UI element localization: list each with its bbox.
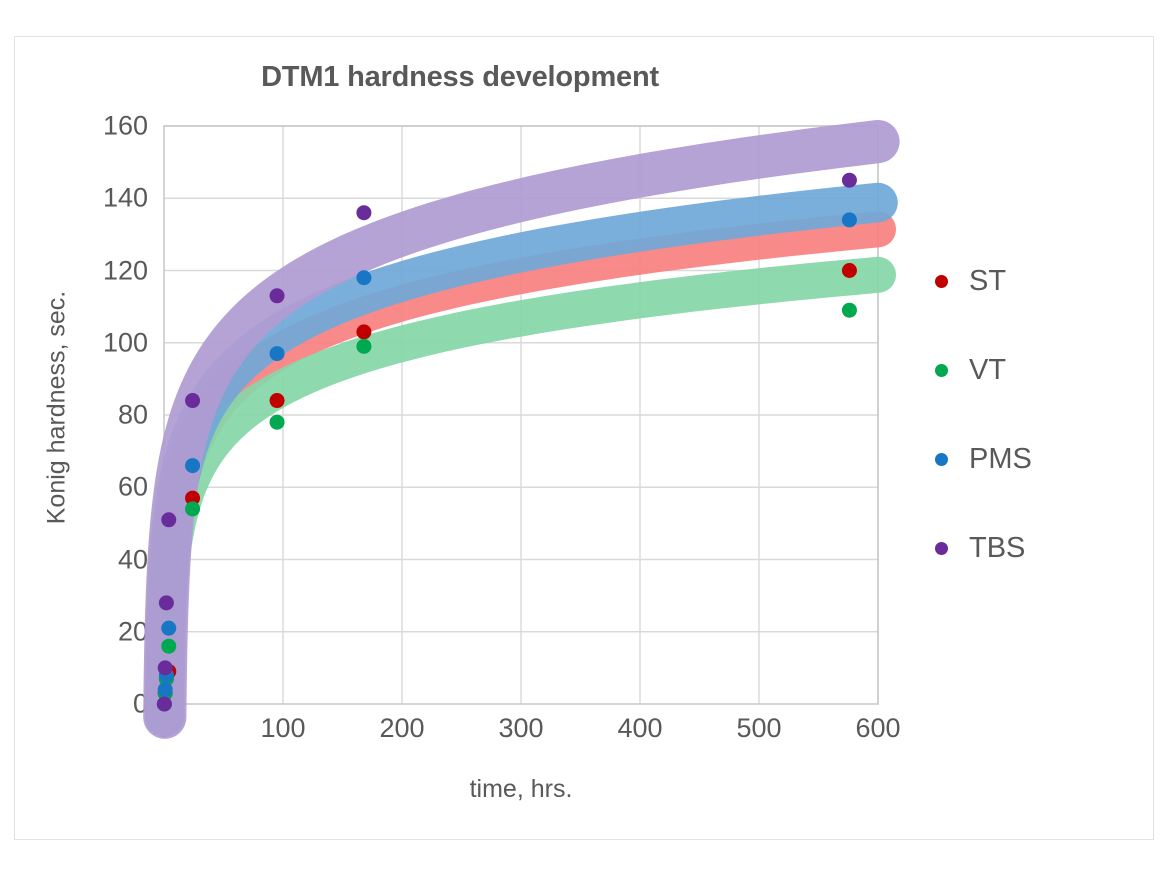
legend-label: PMS (969, 443, 1032, 476)
legend-item-tbs[interactable]: TBS (935, 504, 1135, 593)
data-point (158, 682, 173, 697)
legend-marker-icon (935, 275, 948, 288)
data-point (185, 458, 200, 473)
legend-label: TBS (969, 532, 1025, 565)
data-point (161, 639, 176, 654)
data-point (159, 595, 174, 610)
legend-marker-icon (935, 453, 948, 466)
data-point (185, 393, 200, 408)
data-point (842, 303, 857, 318)
data-point (842, 212, 857, 227)
legend-label: ST (969, 265, 1006, 298)
legend-marker-icon (935, 364, 948, 377)
chart-container: DTM1 hardness development Konig hardness… (14, 36, 1154, 840)
data-point (158, 660, 173, 675)
data-point (842, 263, 857, 278)
data-point (356, 205, 371, 220)
data-point (270, 346, 285, 361)
legend-item-st[interactable]: ST (935, 237, 1135, 326)
data-point (356, 270, 371, 285)
data-point (356, 339, 371, 354)
data-point (185, 501, 200, 516)
data-point (161, 512, 176, 527)
data-point (356, 324, 371, 339)
legend-label: VT (969, 354, 1006, 387)
data-point (270, 393, 285, 408)
legend-marker-icon (935, 542, 948, 555)
legend-item-vt[interactable]: VT (935, 326, 1135, 415)
data-point (157, 697, 172, 712)
data-point (842, 173, 857, 188)
chart-legend: STVTPMSTBS (935, 237, 1135, 593)
legend-item-pms[interactable]: PMS (935, 415, 1135, 504)
data-point (270, 288, 285, 303)
data-point (270, 415, 285, 430)
data-point (161, 621, 176, 636)
